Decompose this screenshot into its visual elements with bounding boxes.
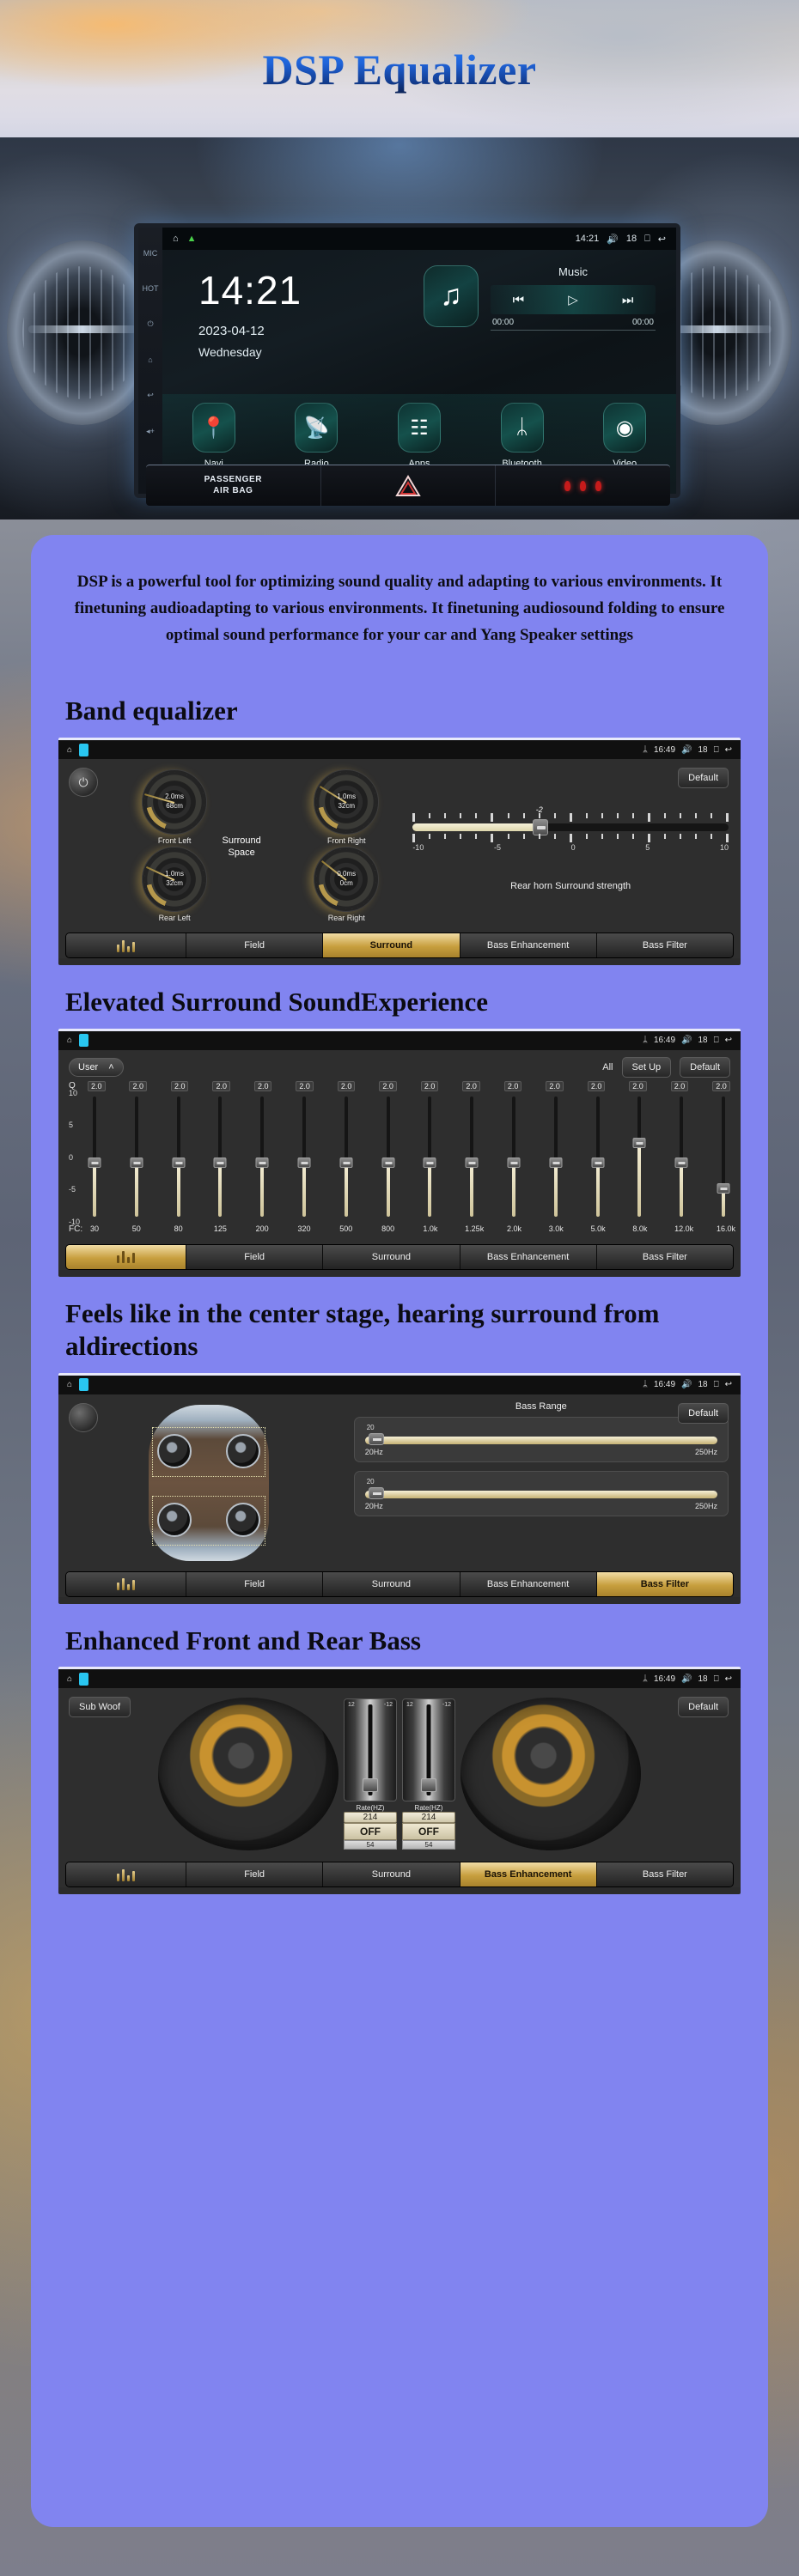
q-value-500[interactable]: 2.0 [338, 1081, 356, 1091]
tab-field[interactable]: Field [186, 1245, 323, 1269]
bass-range-max-front: 250Hz [695, 1448, 717, 1456]
fc-125: 125 [213, 1224, 227, 1233]
content-card: DSP is a powerful tool for optimizing so… [31, 535, 768, 2527]
fc-800: 800 [381, 1224, 395, 1233]
section-heading-elevated-surround: Elevated Surround SoundExperience [65, 986, 741, 1018]
tab-equalizer[interactable] [66, 1572, 186, 1596]
hero-banner: DSP Equalizer [0, 0, 799, 137]
frequency-values: 3050801252003205008001.0k1.25k2.0k3.0k5.… [88, 1224, 730, 1233]
music-widget-title: Music [491, 265, 656, 278]
equalizer-sliders-icon [117, 1250, 135, 1263]
bass-toggle-left[interactable]: OFF [344, 1823, 397, 1840]
dsp-tab-bar[interactable]: Field Surround Bass Enhancement Bass Fil… [65, 1862, 734, 1887]
fader-scale-top-left: 12 [406, 1702, 413, 1708]
fc-80: 80 [172, 1224, 186, 1233]
fc-200: 200 [255, 1224, 269, 1233]
preset-value: User [78, 1062, 98, 1072]
tab-bass-enhancement[interactable]: Bass Enhancement [460, 1572, 597, 1596]
bluetooth-icon: ᛦ [643, 1380, 648, 1389]
tab-equalizer[interactable] [66, 1862, 186, 1886]
q-value-30[interactable]: 2.0 [88, 1081, 106, 1091]
status-time: 16:49 [654, 1036, 675, 1045]
app-badge-icon [79, 1673, 88, 1686]
dashboard-indicator-lights [496, 465, 670, 506]
fc-320: 320 [297, 1224, 311, 1233]
clock-time: 14:21 [198, 270, 302, 310]
dsp-screen-equalizer: ⌂ ᛦ 16:49 🔊 18 ⎕ ↩ User ˄ [58, 1029, 741, 1277]
all-bands-label[interactable]: All [602, 1062, 613, 1072]
fc-2.0k: 2.0k [507, 1224, 521, 1233]
q-value-800[interactable]: 2.0 [379, 1081, 397, 1091]
fc-16.0k: 16.0k [717, 1224, 730, 1233]
status-volume-level: 18 [698, 1380, 707, 1389]
rate-label-left: Rate(HZ) [344, 1804, 397, 1812]
tab-equalizer[interactable] [66, 1245, 186, 1269]
bass-bottom-value-left: 54 [344, 1840, 397, 1850]
hardkey-power-icon[interactable]: ⏻ [147, 319, 153, 329]
track-elapsed-time: 00:00 [492, 318, 514, 327]
app-badge-icon [79, 1378, 88, 1391]
tab-bass-filter[interactable]: Bass Filter [597, 1862, 733, 1886]
knob-value-ms-rear-left: 1.0ms [165, 870, 184, 879]
knob-label-front-right: Front Right [280, 836, 412, 845]
car-dashboard-photo: MIC HOT ⏻ ⌂ ↩ ◂+ ◂- ⌂ ▲ 14:21 🔊 18 [0, 137, 799, 519]
bluetooth-icon: ᛦ [501, 403, 544, 453]
slider-scale-labels: -10 -5 0 5 10 [412, 843, 729, 852]
recents-icon[interactable]: ⎕ [714, 1380, 719, 1389]
page-title: DSP Equalizer [0, 45, 799, 94]
knob-value-ms-front-right: 1.0ms [337, 793, 356, 802]
preset-dropdown[interactable]: User ˄ [69, 1058, 124, 1077]
dock-app-radio[interactable]: 📡 Radio [280, 403, 352, 469]
volume-icon: 🔊 [681, 1380, 692, 1389]
slider-ticks-top [412, 813, 729, 822]
tab-surround[interactable]: Surround [323, 1862, 460, 1886]
eq-band-5.0k[interactable] [591, 1093, 605, 1222]
head-unit-status-bar: ⌂ ▲ 14:21 🔊 18 ⎕ ↩ [162, 228, 676, 250]
dock-app-navi[interactable]: 📍 Navi [178, 403, 250, 469]
y-tick--5: -5 [69, 1185, 76, 1194]
fc-3.0k: 3.0k [549, 1224, 563, 1233]
knob-label-rear-right: Rear Right [280, 914, 412, 922]
q-value-3.0k[interactable]: 2.0 [546, 1081, 564, 1091]
section-heading-band-equalizer: Band equalizer [65, 695, 741, 727]
recents-icon[interactable]: ⎕ [714, 745, 719, 755]
y-tick-5: 5 [69, 1121, 73, 1129]
q-value-125[interactable]: 2.0 [212, 1081, 230, 1091]
fc-5.0k: 5.0k [591, 1224, 605, 1233]
setup-button[interactable]: Set Up [622, 1057, 672, 1078]
hazard-triangle-icon [395, 475, 421, 497]
dock-app-bluetooth[interactable]: ᛦ Bluetooth [486, 403, 558, 469]
car-speaker-diagram[interactable] [70, 1401, 347, 1563]
home-icon[interactable]: ⌂ [67, 1674, 72, 1684]
default-button[interactable]: Default [678, 1403, 729, 1424]
dock-app-video[interactable]: ◉ Video [589, 403, 661, 469]
page-root: DSP Equalizer MIC HOT ⏻ ⌂ ↩ ◂+ ◂- ⌂ ▲ [0, 0, 799, 2576]
fc-1.0k: 1.0k [423, 1224, 436, 1233]
tab-bass-filter[interactable]: Bass Filter [597, 933, 733, 957]
bass-channel-left[interactable]: 12 -12 Rate(HZ) 214 OFF 54 [344, 1698, 397, 1850]
fader-scale-top-right: -12 [442, 1702, 451, 1708]
dsp-tab-bar[interactable]: Field Surround Bass Enhancement Bass Fil… [65, 1244, 734, 1270]
speaker-front-right-icon[interactable] [226, 1434, 260, 1468]
speaker-rear-right-icon[interactable] [226, 1503, 260, 1537]
dock-app-apps[interactable]: ☷ Apps [383, 403, 455, 469]
volume-icon: 🔊 [681, 1674, 692, 1684]
speaker-rear-left-icon[interactable] [157, 1503, 192, 1537]
bass-range-control-rear[interactable]: 20 20Hz 250Hz [354, 1471, 729, 1516]
bass-channel-right[interactable]: 12 -12 Rate(HZ) 214 OFF 54 [402, 1698, 455, 1850]
y-tick-10: 10 [69, 1089, 77, 1097]
delay-knob-rear-right[interactable]: 0.0ms 0cm Rear Right [280, 847, 412, 922]
home-icon[interactable]: ⌂ [173, 234, 179, 244]
bass-range-title: Bass Range [354, 1401, 729, 1412]
app-badge-icon [79, 744, 88, 756]
eq-band-500[interactable] [339, 1093, 353, 1222]
delay-knob-front-right[interactable]: 1.0ms 32cm Front Right [280, 769, 412, 845]
knob-value-cm-rear-right: 0cm [340, 879, 353, 889]
q-value-8.0k[interactable]: 2.0 [629, 1081, 647, 1091]
q-value-320[interactable]: 2.0 [296, 1081, 314, 1091]
knob-value-cm-front-right: 32cm [338, 802, 355, 811]
rear-surround-strength-slider[interactable]: -2 [412, 812, 729, 841]
eq-band-80[interactable] [172, 1093, 186, 1222]
equalizer-sliders-icon [117, 1868, 135, 1881]
head-unit-screen: ⌂ ▲ 14:21 🔊 18 ⎕ ↩ 14:21 2023-04-12 [162, 228, 676, 494]
bass-fader-left[interactable]: 12 -12 [344, 1698, 397, 1801]
eq-band-125[interactable] [213, 1093, 227, 1222]
music-widget[interactable]: ♫ Music ⏮ ▷ ⏭ 00:00 00:00 [424, 265, 656, 331]
volume-icon: 🔊 [607, 234, 619, 245]
knob-label-rear-left: Rear Left [108, 914, 241, 922]
q-values[interactable]: 2.02.02.02.02.02.02.02.02.02.02.02.02.02… [88, 1081, 730, 1091]
eq-band-320[interactable] [297, 1093, 311, 1222]
recents-icon[interactable]: ⎕ [714, 1036, 719, 1045]
status-time: 16:49 [654, 1380, 675, 1389]
y-tick--10: -10 [69, 1218, 80, 1226]
tab-field[interactable]: Field [186, 1572, 323, 1596]
q-value-1.0k[interactable]: 2.0 [421, 1081, 439, 1091]
bass-range-min-rear: 20Hz [365, 1502, 383, 1510]
bass-range-min-front: 20Hz [365, 1448, 383, 1456]
eq-band-30[interactable] [88, 1093, 101, 1222]
bluetooth-icon: ᛦ [643, 1036, 648, 1045]
hardkey-home-icon[interactable]: ⌂ [148, 355, 152, 364]
slider-ticks-bottom [412, 834, 729, 842]
bass-range-value-front: 20 [367, 1424, 717, 1431]
track-total-time: 00:00 [632, 318, 654, 327]
q-value-80[interactable]: 2.0 [171, 1081, 189, 1091]
rate-value-right[interactable]: 214 [402, 1812, 455, 1823]
fc-1.25k: 1.25k [465, 1224, 479, 1233]
q-value-2.0k[interactable]: 2.0 [504, 1081, 522, 1091]
eq-band-16.0k[interactable] [717, 1093, 730, 1222]
fc-8.0k: 8.0k [632, 1224, 646, 1233]
hardkey-hot[interactable]: HOT [143, 284, 159, 293]
dsp-screen-bass-filter: ⌂ ᛦ 16:49 🔊 18 ⎕ ↩ Default [58, 1373, 741, 1604]
chevron-up-icon: ˄ [108, 1062, 113, 1072]
frequency-label-row: FC: 3050801252003205008001.0k1.25k2.0k3.… [58, 1222, 741, 1239]
q-value-1.25k[interactable]: 2.0 [462, 1081, 480, 1091]
next-track-button[interactable]: ⏭ [622, 293, 634, 307]
app-badge-icon [79, 1034, 88, 1047]
tab-equalizer[interactable] [66, 933, 186, 957]
airbag-label-line1: PASSENGER [204, 475, 262, 486]
screen-status-bar: ⌂ ᛦ 16:49 🔊 18 ⎕ ↩ [58, 1376, 741, 1394]
speaker-front-left-icon[interactable] [157, 1434, 192, 1468]
eq-band-8.0k[interactable] [632, 1093, 646, 1222]
intro-paragraph: DSP is a powerful tool for optimizing so… [58, 557, 741, 674]
hardkey-volume-up-icon[interactable]: ◂+ [146, 427, 155, 436]
subwoofer-left-icon [158, 1698, 339, 1850]
tab-field[interactable]: Field [186, 1862, 323, 1886]
tab-surround[interactable]: Surround [323, 933, 460, 957]
fc-12.0k: 12.0k [674, 1224, 688, 1233]
back-icon[interactable]: ↩ [658, 234, 666, 245]
fc-30: 30 [88, 1224, 101, 1233]
home-icon[interactable]: ⌂ [67, 745, 72, 755]
location-pin-icon: 📍 [192, 403, 235, 453]
knob-label-front-left: Front Left [108, 836, 241, 845]
dsp-tab-bar[interactable]: Field Surround Bass Enhancement Bass Fil… [65, 933, 734, 958]
eq-band-2.0k[interactable] [507, 1093, 521, 1222]
status-volume-level: 18 [698, 1674, 707, 1684]
fc-50: 50 [130, 1224, 143, 1233]
fc-500: 500 [339, 1224, 353, 1233]
screen-status-bar: ⌂ ᛦ 16:49 🔊 18 ⎕ ↩ [58, 1669, 741, 1688]
eq-band-3.0k[interactable] [549, 1093, 563, 1222]
q-value-16.0k[interactable]: 2.0 [712, 1081, 730, 1091]
rear-horn-caption: Rear horn Surround strength [412, 881, 729, 891]
tab-bass-filter[interactable]: Bass Filter [597, 1245, 733, 1269]
status-volume-level: 18 [626, 234, 637, 244]
status-time: 16:49 [654, 1674, 675, 1684]
knob-value-ms-front-left: 2.0ms [165, 793, 184, 802]
surround-panel: ⏻ Default 2.0ms 68c [58, 759, 741, 958]
subwoofer-right-icon [460, 1698, 641, 1850]
tab-bass-filter[interactable]: Bass Filter [597, 1572, 733, 1596]
delay-knob-front-left[interactable]: 2.0ms 68cm Front Left [108, 769, 241, 845]
q-value-200[interactable]: 2.0 [254, 1081, 272, 1091]
car-head-unit[interactable]: MIC HOT ⏻ ⌂ ↩ ◂+ ◂- ⌂ ▲ 14:21 🔊 18 [134, 223, 680, 498]
head-unit-hard-keys[interactable]: MIC HOT ⏻ ⌂ ↩ ◂+ ◂- [138, 228, 162, 494]
eq-band-800[interactable] [381, 1093, 395, 1222]
bluetooth-icon: ᛦ [643, 745, 648, 755]
section-heading-enhanced-bass: Enhanced Front and Rear Bass [65, 1625, 741, 1657]
bass-bottom-value-right: 54 [402, 1840, 455, 1850]
airbag-label-line2: AIR BAG [204, 486, 262, 497]
volume-icon: 🔊 [681, 745, 692, 755]
status-volume-level: 18 [698, 745, 707, 755]
screen-status-bar: ⌂ ᛦ 16:49 🔊 18 ⎕ ↩ [58, 1031, 741, 1050]
bluetooth-icon: ᛦ [643, 1674, 648, 1684]
dsp-screen-bass-enhancement: ⌂ ᛦ 16:49 🔊 18 ⎕ ↩ Sub Woof Default [58, 1667, 741, 1894]
back-icon[interactable]: ↩ [725, 1036, 732, 1045]
android-icon[interactable]: ▲ [187, 234, 197, 244]
status-time: 16:49 [654, 745, 675, 755]
y-tick-0: 0 [69, 1153, 73, 1162]
default-button[interactable]: Default [678, 768, 729, 788]
q-value-5.0k[interactable]: 2.0 [588, 1081, 606, 1091]
knob-value-ms-rear-right: 0.0ms [337, 870, 356, 879]
bass-filter-panel: Default Bass Range [58, 1394, 741, 1597]
dashboard-button-panel: PASSENGER AIR BAG [146, 465, 670, 506]
knob-value-cm-front-left: 68cm [166, 802, 183, 811]
bass-range-max-rear: 250Hz [695, 1502, 717, 1510]
home-icon[interactable]: ⌂ [67, 1380, 72, 1389]
eq-band-1.0k[interactable] [423, 1093, 436, 1222]
slider-value-badge: -2 [536, 805, 543, 814]
bass-range-control-front[interactable]: 20 20Hz 250Hz [354, 1417, 729, 1462]
hardkey-back-icon[interactable]: ↩ [147, 391, 154, 400]
music-note-icon: ♫ [424, 265, 479, 327]
status-time: 14:21 [576, 234, 600, 244]
q-value-12.0k[interactable]: 2.0 [671, 1081, 689, 1091]
equalizer-sliders-icon [117, 1577, 135, 1590]
equalizer-panel: User ˄ All Set Up Default Q 2.02.02.02.0… [58, 1050, 741, 1270]
equalizer-y-axis: 1050-5-10 [69, 1093, 88, 1222]
tab-bass-enhancement[interactable]: Bass Enhancement [460, 1862, 597, 1886]
hardkey-mic[interactable]: MIC [143, 249, 158, 258]
head-unit-home: 14:21 2023-04-12 Wednesday ♫ Music ⏮ ▷ ⏭ [162, 250, 676, 494]
recents-icon[interactable]: ⎕ [644, 234, 650, 245]
recents-icon[interactable]: ⎕ [714, 1674, 719, 1684]
default-button[interactable]: Default [680, 1057, 730, 1078]
knob-value-cm-rear-left: 32cm [166, 879, 183, 889]
clock-weekday: Wednesday [198, 345, 302, 359]
fader-scale-top-left: 12 [348, 1702, 355, 1708]
back-icon[interactable]: ↩ [725, 1674, 732, 1684]
clock-widget[interactable]: 14:21 2023-04-12 Wednesday [198, 270, 302, 359]
fader-scale-top-right: -12 [384, 1702, 393, 1708]
eq-band-1.25k[interactable] [465, 1093, 479, 1222]
equalizer-sliders-icon [117, 939, 135, 952]
eq-band-12.0k[interactable] [674, 1093, 688, 1222]
surround-space-label: Surround Space [223, 835, 261, 860]
status-volume-level: 18 [698, 1036, 707, 1045]
bass-toggle-right[interactable]: OFF [402, 1823, 455, 1840]
film-reel-icon: ◉ [603, 403, 646, 453]
bass-range-value-rear: 20 [367, 1478, 717, 1485]
rate-value-left[interactable]: 214 [344, 1812, 397, 1823]
radio-tower-icon: 📡 [295, 403, 338, 453]
bass-fader-right[interactable]: 12 -12 [402, 1698, 455, 1801]
delay-knob-rear-left[interactable]: 1.0ms 32cm Rear Left [108, 847, 241, 922]
q-value-50[interactable]: 2.0 [129, 1081, 147, 1091]
rate-label-right: Rate(HZ) [402, 1804, 455, 1812]
tab-field[interactable]: Field [186, 933, 323, 957]
back-icon[interactable]: ↩ [725, 745, 732, 755]
dsp-screen-surround: ⌂ ᛦ 16:49 🔊 18 ⎕ ↩ ⏻ Default [58, 738, 741, 965]
equalizer-band-sliders[interactable] [88, 1093, 730, 1222]
tab-surround[interactable]: Surround [323, 1572, 460, 1596]
play-button[interactable]: ▷ [568, 292, 578, 307]
grid-apps-icon: ☷ [398, 403, 441, 453]
prev-track-button[interactable]: ⏮ [513, 293, 525, 307]
tab-bass-enhancement[interactable]: Bass Enhancement [460, 933, 597, 957]
tab-bass-enhancement[interactable]: Bass Enhancement [460, 1245, 597, 1269]
equalizer-graph: 1050-5-10 [58, 1091, 741, 1222]
clock-date: 2023-04-12 [198, 324, 302, 338]
home-icon[interactable]: ⌂ [67, 1036, 72, 1045]
eq-band-200[interactable] [255, 1093, 269, 1222]
passenger-airbag-indicator: PASSENGER AIR BAG [146, 465, 321, 506]
section-heading-center-stage: Feels like in the center stage, hearing … [65, 1297, 741, 1363]
eq-band-50[interactable] [130, 1093, 143, 1222]
dsp-tab-bar[interactable]: Field Surround Bass Enhancement Bass Fil… [65, 1571, 734, 1597]
bass-enhancement-panel: Sub Woof Default 12 -12 [58, 1688, 741, 1887]
tab-surround[interactable]: Surround [323, 1245, 460, 1269]
q-value-row: Q 2.02.02.02.02.02.02.02.02.02.02.02.02.… [58, 1079, 741, 1091]
volume-icon: 🔊 [681, 1036, 692, 1045]
screen-status-bar: ⌂ ᛦ 16:49 🔊 18 ⎕ ↩ [58, 740, 741, 759]
hazard-light-button[interactable] [321, 465, 497, 506]
back-icon[interactable]: ↩ [725, 1380, 732, 1389]
